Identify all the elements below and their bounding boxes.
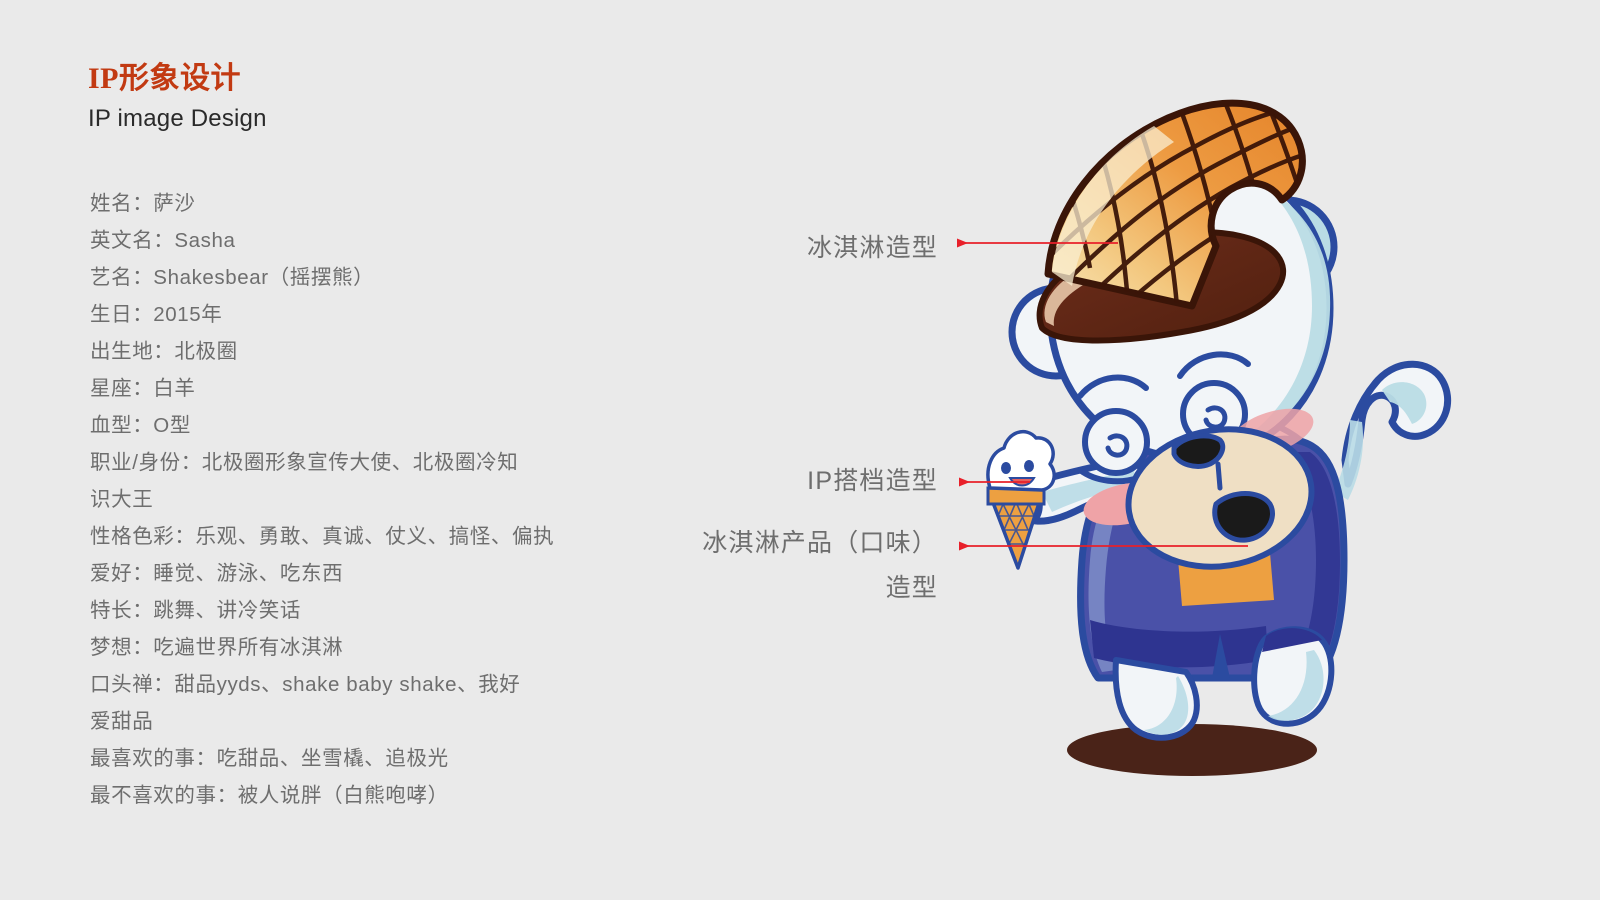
mouth xyxy=(1215,494,1273,541)
ground-shadow xyxy=(1067,724,1317,776)
profile-line-birthplace: 出生地：北极圈 xyxy=(90,333,590,370)
annotation-label-ice-cream-product: 冰淇淋产品（口味） 造型 xyxy=(418,521,938,611)
profile-line-catchphrase-cont: 爱甜品 xyxy=(90,703,590,740)
profile-line-stage-name: 艺名：Shakesbear（摇摆熊） xyxy=(90,259,590,296)
profile-line-dream: 梦想：吃遍世界所有冰淇淋 xyxy=(90,629,590,666)
poster-canvas: IP形象设计 IP image Design 姓名：萨沙 英文名：Sasha 艺… xyxy=(0,0,1600,900)
nose-icon xyxy=(1174,436,1223,467)
profile-line-favorite: 最喜欢的事：吃甜品、坐雪橇、追极光 xyxy=(90,740,590,777)
annotation-label-ip-partner: IP搭档造型 xyxy=(458,461,938,497)
annotation-label-ice-cream-product-line1: 冰淇淋产品（口味） xyxy=(418,521,938,566)
profile-line-zodiac: 星座：白羊 xyxy=(90,370,590,407)
page-title-cn: IP形象设计 xyxy=(88,62,267,97)
annotation-label-ice-cream-product-line2: 造型 xyxy=(418,566,938,611)
profile-line-name: 姓名：萨沙 xyxy=(90,185,590,222)
character-profile-list: 姓名：萨沙 英文名：Sasha 艺名：Shakesbear（摇摆熊） 生日：20… xyxy=(90,185,590,814)
profile-line-least-favorite: 最不喜欢的事：被人说胖（白熊咆哮） xyxy=(90,777,590,814)
annotation-label-ice-cream-shape: 冰淇淋造型 xyxy=(458,228,938,264)
mascot-illustration xyxy=(930,60,1490,800)
raised-arm xyxy=(1334,364,1448,500)
profile-line-blood-type: 血型：O型 xyxy=(90,407,590,444)
ice-cream-cone-partner xyxy=(988,432,1054,568)
profile-line-birthday: 生日：2015年 xyxy=(90,296,590,333)
page-title-en: IP image Design xyxy=(88,105,267,133)
profile-line-catchphrase: 口头禅：甜品yyds、shake baby shake、我好 xyxy=(90,666,590,703)
page-header: IP形象设计 IP image Design xyxy=(88,62,267,133)
